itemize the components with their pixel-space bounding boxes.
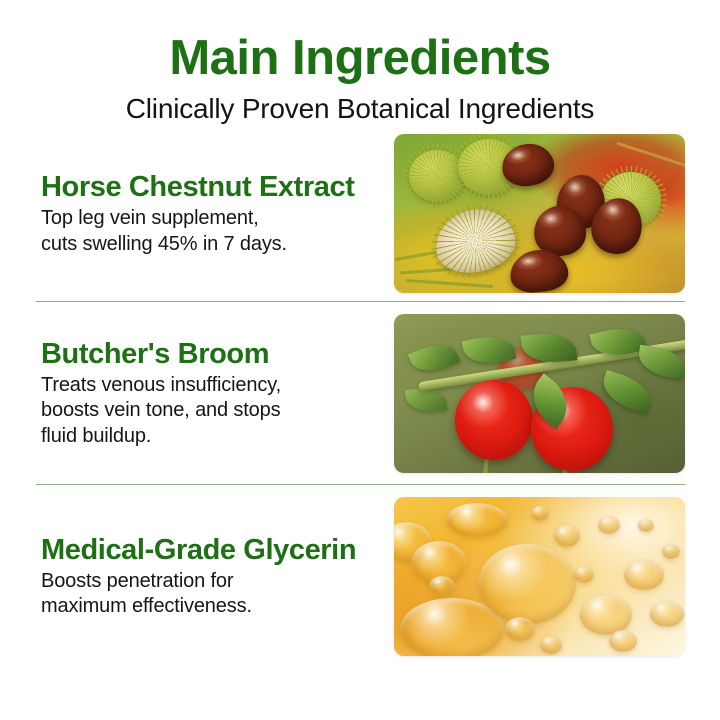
broom-leaf [408, 338, 460, 379]
twig [617, 142, 685, 168]
page-title: Main Ingredients [0, 30, 720, 86]
ingredient-text-block: Medical-Grade Glycerin Boosts penetratio… [41, 533, 386, 620]
ingredient-name: Medical-Grade Glycerin [41, 533, 376, 567]
header: Main Ingredients Clinically Proven Botan… [0, 0, 720, 126]
broom-berry [455, 380, 533, 460]
ingredient-image-horse-chestnut [394, 134, 685, 293]
ingredient-list: Horse Chestnut Extract Top leg vein supp… [0, 126, 720, 720]
oil-bubble [598, 516, 620, 534]
oil-bubble [662, 544, 680, 559]
oil-bubble [638, 519, 654, 532]
ingredient-image-glycerin [394, 497, 685, 656]
page-subtitle: Clinically Proven Botanical Ingredients [0, 92, 720, 126]
oil-bubble [650, 601, 684, 627]
ingredient-text-block: Horse Chestnut Extract Top leg vein supp… [41, 170, 386, 257]
oil-bubble [554, 525, 580, 547]
ingredient-row-medical-grade-glycerin: Medical-Grade Glycerin Boosts penetratio… [0, 485, 720, 667]
broom-leaf [404, 386, 446, 414]
ingredient-description: Boosts penetration for maximum effective… [41, 569, 376, 620]
ingredient-row-horse-chestnut-extract: Horse Chestnut Extract Top leg vein supp… [0, 126, 720, 301]
broom-leaf [637, 345, 685, 379]
oil-bubble [429, 576, 455, 596]
oil-bubble [574, 566, 594, 583]
oil-bubble [531, 506, 549, 521]
ingredient-name: Horse Chestnut Extract [41, 170, 376, 204]
oil-bubble [505, 617, 535, 641]
glycerin-oil-photo [394, 497, 685, 656]
oil-bubble [624, 560, 664, 590]
ingredients-infographic: Main Ingredients Clinically Proven Botan… [0, 0, 720, 720]
butchers-broom-photo [394, 314, 685, 473]
ingredient-row-butchers-broom: Butcher's Broom Treats venous insufficie… [0, 302, 720, 484]
oil-bubble [609, 630, 637, 652]
ingredient-name: Butcher's Broom [41, 337, 376, 371]
ingredient-image-butchers-broom [394, 314, 685, 473]
leaf-vein [406, 279, 493, 288]
opened-chestnut-husk [429, 203, 520, 280]
ingredient-description: Top leg vein supplement, cuts swelling 4… [41, 206, 376, 257]
oil-bubble [540, 636, 562, 654]
oil-bubble [478, 544, 576, 624]
horse-chestnut-photo [394, 134, 685, 293]
oil-bubble [446, 503, 508, 537]
ingredient-text-block: Butcher's Broom Treats venous insufficie… [41, 337, 386, 450]
ingredient-description: Treats venous insufficiency, boosts vein… [41, 373, 376, 450]
